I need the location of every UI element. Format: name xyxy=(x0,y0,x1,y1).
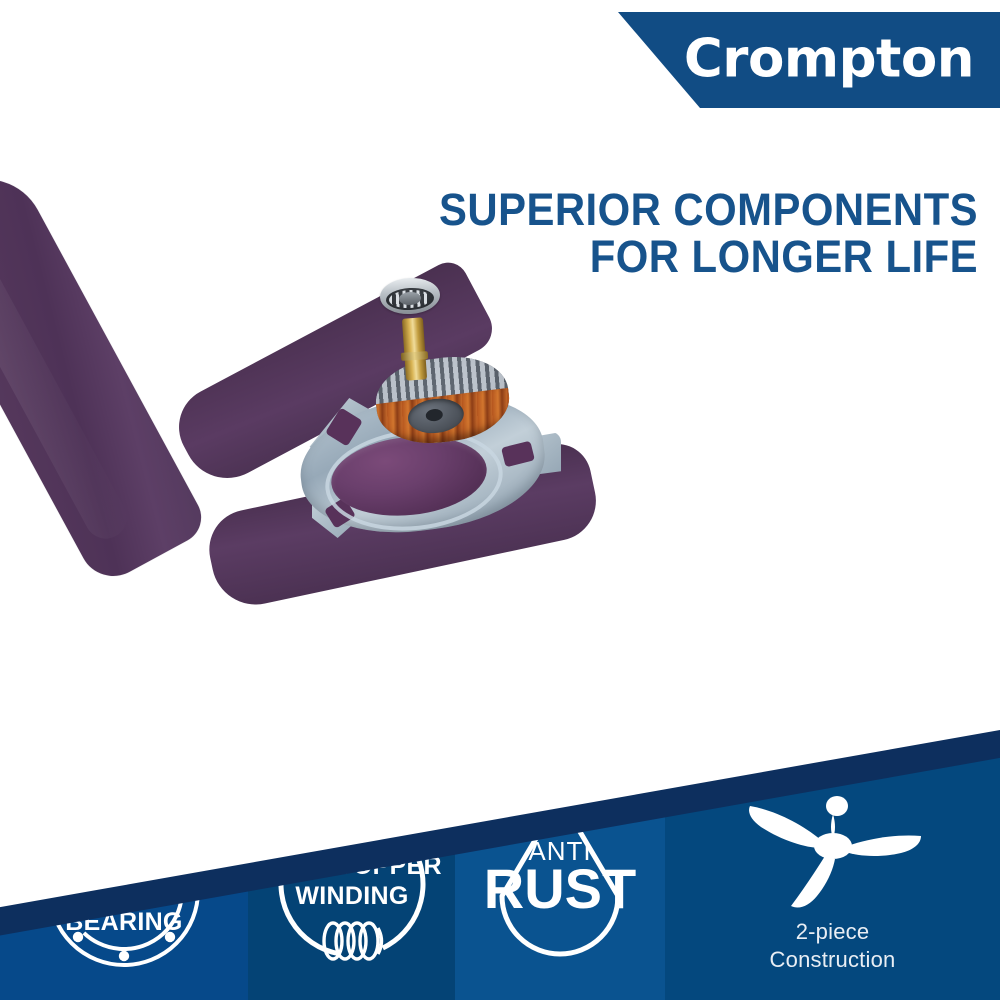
feature-panel-double-ball-bearing: DOUBLE BALL BEARING xyxy=(0,570,248,1000)
brass-shaft xyxy=(402,317,427,380)
feature-band: DOUBLE BALL BEARING 100% COPPER WINDING xyxy=(0,570,1000,1000)
feature-label: 2-piece Construction xyxy=(770,918,896,974)
feature-panel-anti-rust: ANTI RUST xyxy=(455,570,665,1000)
fan-blade-highlight xyxy=(0,201,135,546)
feature-label-line-1: DOUBLE xyxy=(80,861,167,883)
headline: SUPERIOR COMPONENTS FOR LONGER LIFE xyxy=(358,186,978,280)
headline-line-2: FOR LONGER LIFE xyxy=(401,233,978,280)
feature-two-piece-construction: 2-piece Construction xyxy=(665,790,1000,974)
fan-blade-upper-left xyxy=(0,159,210,588)
feature-copper-winding: 100% COPPER WINDING xyxy=(248,798,455,974)
feature-label-line-1: 2-piece xyxy=(770,918,896,946)
headline-line-1: SUPERIOR COMPONENTS xyxy=(401,186,978,233)
feature-label-line-2: Construction xyxy=(770,946,896,974)
product-banner-page: Crompton SUPERIOR COMPONENTS FOR LONGER … xyxy=(0,0,1000,1000)
feature-label-line-2: RUST xyxy=(484,857,636,920)
brand-name: Crompton xyxy=(684,28,974,89)
copper-coil-icon: 100% COPPER WINDING xyxy=(261,798,443,974)
ceiling-fan-icon xyxy=(733,790,933,918)
feature-panel-copper-winding: 100% COPPER WINDING xyxy=(248,570,455,1000)
feature-label-line-2: WINDING xyxy=(295,882,408,910)
band-panels: DOUBLE BALL BEARING 100% COPPER WINDING xyxy=(0,570,1000,1000)
